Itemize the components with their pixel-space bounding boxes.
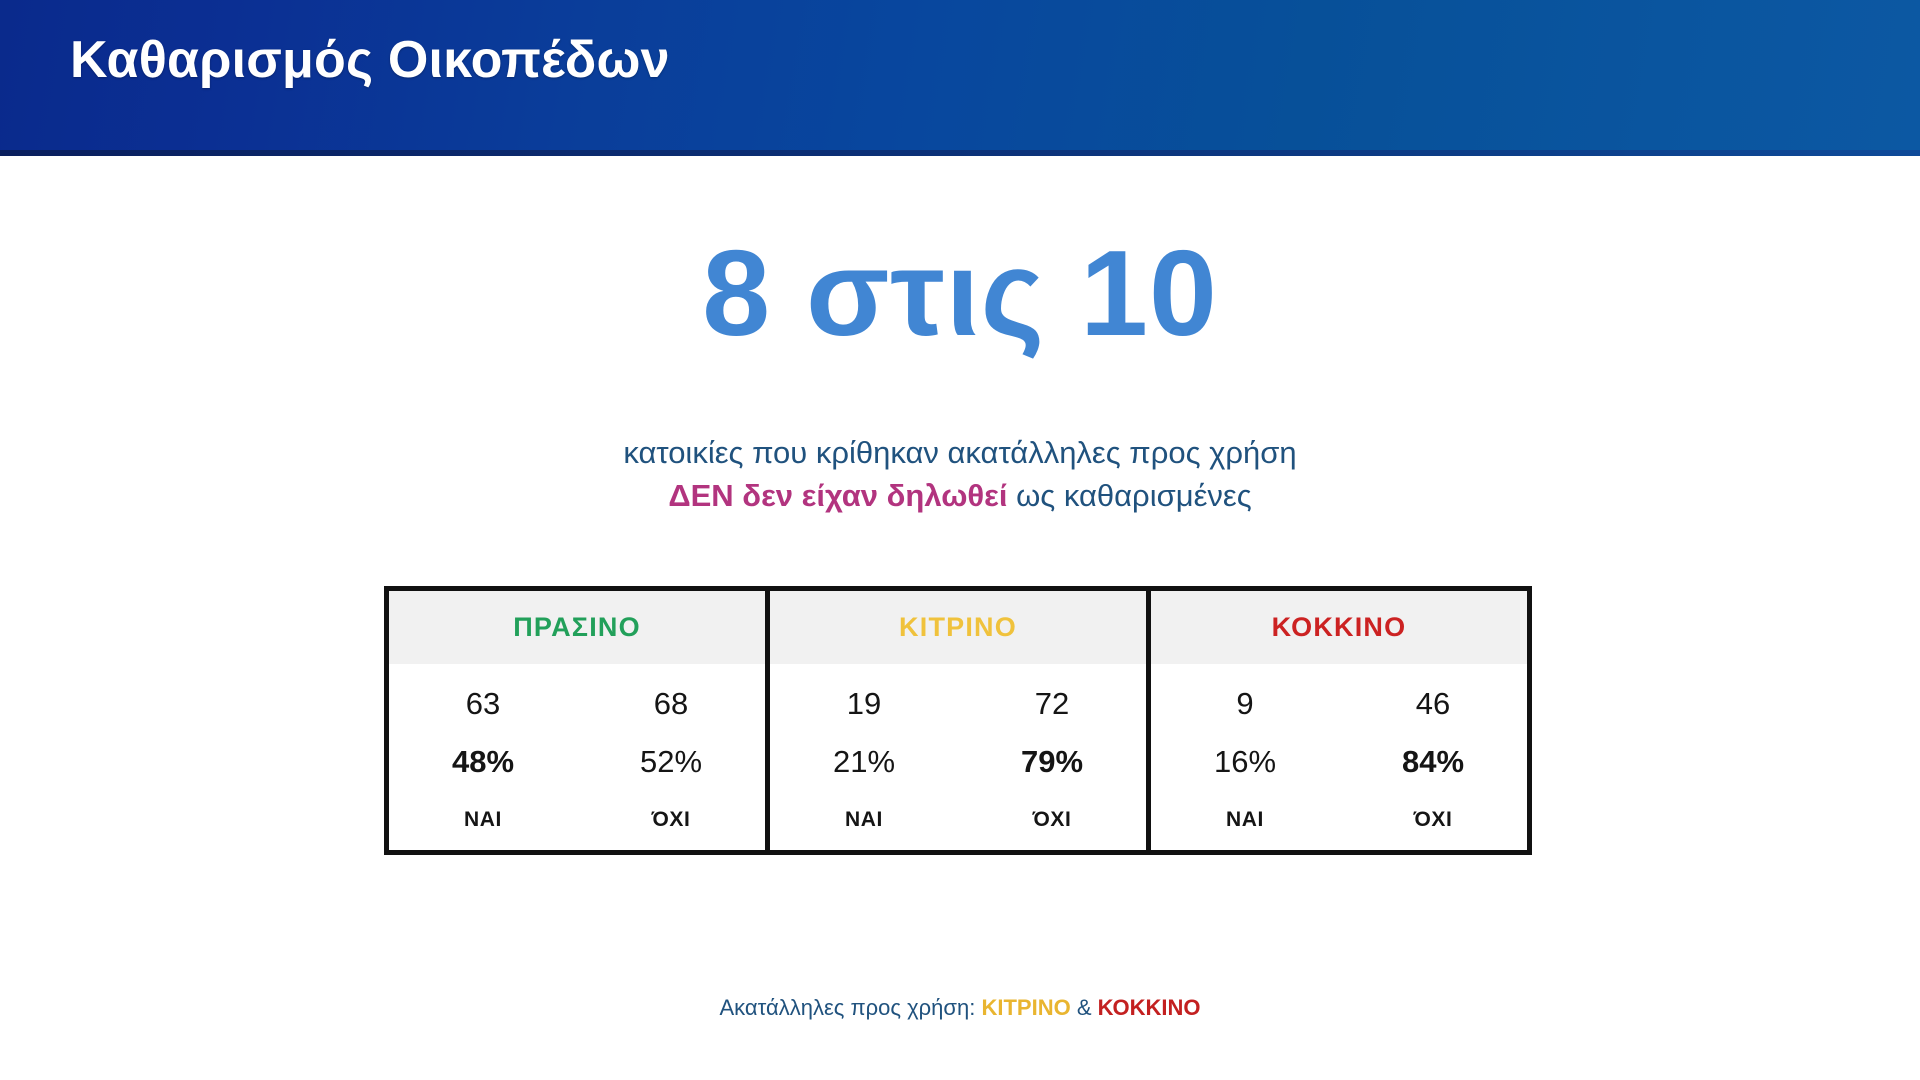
hero-headline: 8 στις 10 xyxy=(0,232,1920,354)
footnote-yellow-label: ΚΙΤΡΙΝΟ xyxy=(981,995,1070,1020)
answer-label: ΌΧΙ xyxy=(1339,780,1527,836)
results-table: ΠΡΑΣΙΝΟ 63 48% ΝΑΙ 68 52% ΌΧΙ ΚΙΤΡΙΝΟ 19… xyxy=(384,586,1532,855)
percent-value: 84% xyxy=(1339,722,1527,780)
table-group-header-green: ΠΡΑΣΙΝΟ xyxy=(389,591,765,664)
percent-value: 16% xyxy=(1151,722,1339,780)
table-group-red: ΚΟΚΚΙΝΟ 9 16% ΝΑΙ 46 84% ΌΧΙ xyxy=(1146,591,1527,850)
answer-label: ΝΑΙ xyxy=(389,780,577,836)
percent-value: 48% xyxy=(389,722,577,780)
table-group-label-green: ΠΡΑΣΙΝΟ xyxy=(513,612,641,643)
count-value: 9 xyxy=(1151,680,1339,722)
footnote-joiner: & xyxy=(1071,995,1098,1020)
table-subcolumn-yellow-yes: 19 21% ΝΑΙ xyxy=(770,680,958,836)
footnote: Ακατάλληλες προς χρήση: ΚΙΤΡΙΝΟ & ΚΟΚΚΙΝ… xyxy=(0,995,1920,1021)
table-group-body-yellow: 19 21% ΝΑΙ 72 79% ΌΧΙ xyxy=(770,664,1146,850)
count-value: 72 xyxy=(958,680,1146,722)
table-group-body-red: 9 16% ΝΑΙ 46 84% ΌΧΙ xyxy=(1151,664,1527,850)
percent-value: 52% xyxy=(577,722,765,780)
answer-label: ΝΑΙ xyxy=(770,780,958,836)
table-group-header-red: ΚΟΚΚΙΝΟ xyxy=(1151,591,1527,664)
table-subcolumn-yellow-no: 72 79% ΌΧΙ xyxy=(958,680,1146,836)
percent-value: 79% xyxy=(958,722,1146,780)
table-group-label-yellow: ΚΙΤΡΙΝΟ xyxy=(899,612,1017,643)
table-group-green: ΠΡΑΣΙΝΟ 63 48% ΝΑΙ 68 52% ΌΧΙ xyxy=(389,591,765,850)
count-value: 46 xyxy=(1339,680,1527,722)
table-subcolumn-green-yes: 63 48% ΝΑΙ xyxy=(389,680,577,836)
subheadline-emphasis: ΔΕΝ δεν είχαν δηλωθεί xyxy=(668,478,1007,513)
percent-value: 21% xyxy=(770,722,958,780)
count-value: 19 xyxy=(770,680,958,722)
subheadline-line-1: κατοικίες που κρίθηκαν ακατάλληλες προς … xyxy=(0,432,1920,475)
subheadline-tail: ως καθαρισμένες xyxy=(1007,478,1251,513)
table-subcolumn-red-yes: 9 16% ΝΑΙ xyxy=(1151,680,1339,836)
answer-label: ΌΧΙ xyxy=(958,780,1146,836)
table-subcolumn-red-no: 46 84% ΌΧΙ xyxy=(1339,680,1527,836)
header-underline-rule xyxy=(0,150,1920,156)
table-group-header-yellow: ΚΙΤΡΙΝΟ xyxy=(770,591,1146,664)
table-group-yellow: ΚΙΤΡΙΝΟ 19 21% ΝΑΙ 72 79% ΌΧΙ xyxy=(765,591,1146,850)
answer-label: ΝΑΙ xyxy=(1151,780,1339,836)
count-value: 63 xyxy=(389,680,577,722)
subheadline: κατοικίες που κρίθηκαν ακατάλληλες προς … xyxy=(0,432,1920,518)
hero-section: 8 στις 10 xyxy=(0,232,1920,354)
table-group-body-green: 63 48% ΝΑΙ 68 52% ΌΧΙ xyxy=(389,664,765,850)
page-title: Καθαρισμός Οικοπέδων xyxy=(70,30,670,90)
answer-label: ΌΧΙ xyxy=(577,780,765,836)
table-subcolumn-green-no: 68 52% ΌΧΙ xyxy=(577,680,765,836)
table-group-label-red: ΚΟΚΚΙΝΟ xyxy=(1272,612,1407,643)
footnote-red-label: ΚΟΚΚΙΝΟ xyxy=(1098,995,1201,1020)
subheadline-line-2: ΔΕΝ δεν είχαν δηλωθεί ως καθαρισμένες xyxy=(0,475,1920,518)
footnote-prefix: Ακατάλληλες προς χρήση: xyxy=(720,995,982,1020)
count-value: 68 xyxy=(577,680,765,722)
